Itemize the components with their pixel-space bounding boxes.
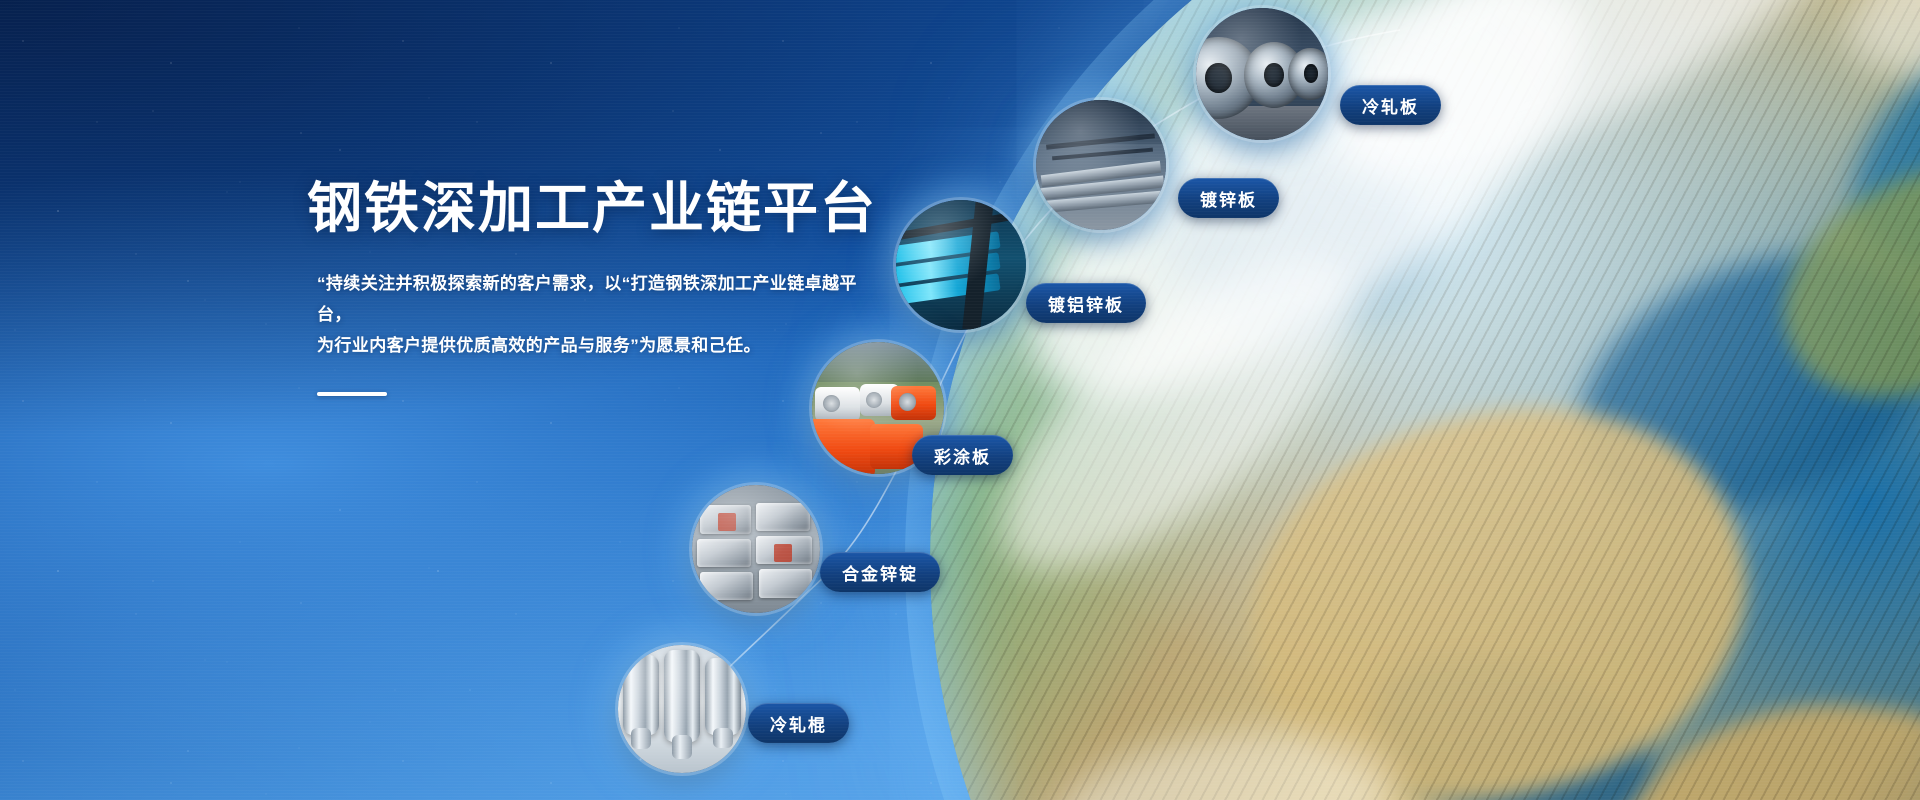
subtitle-line-2: 为行业内客户提供优质高效的产品与服务”为愿景和己任。 xyxy=(317,336,761,355)
hero-banner: 钢铁深加工产业链平台 “持续关注并积极探索新的客户需求，以“打造钢铁深加工产业链… xyxy=(0,0,1920,800)
earth-globe xyxy=(930,0,1920,800)
title-underline-rule xyxy=(317,392,387,396)
globe-rim-light xyxy=(930,0,1920,800)
headline-block: 钢铁深加工产业链平台 “持续关注并积极探索新的客户需求，以“打造钢铁深加工产业链… xyxy=(307,178,947,396)
page-title: 钢铁深加工产业链平台 xyxy=(307,178,947,240)
page-subtitle: “持续关注并积极探索新的客户需求，以“打造钢铁深加工产业链卓越平台， 为行业内客… xyxy=(317,268,882,362)
subtitle-line-1: “持续关注并积极探索新的客户需求，以“打造钢铁深加工产业链卓越平台， xyxy=(317,274,857,324)
